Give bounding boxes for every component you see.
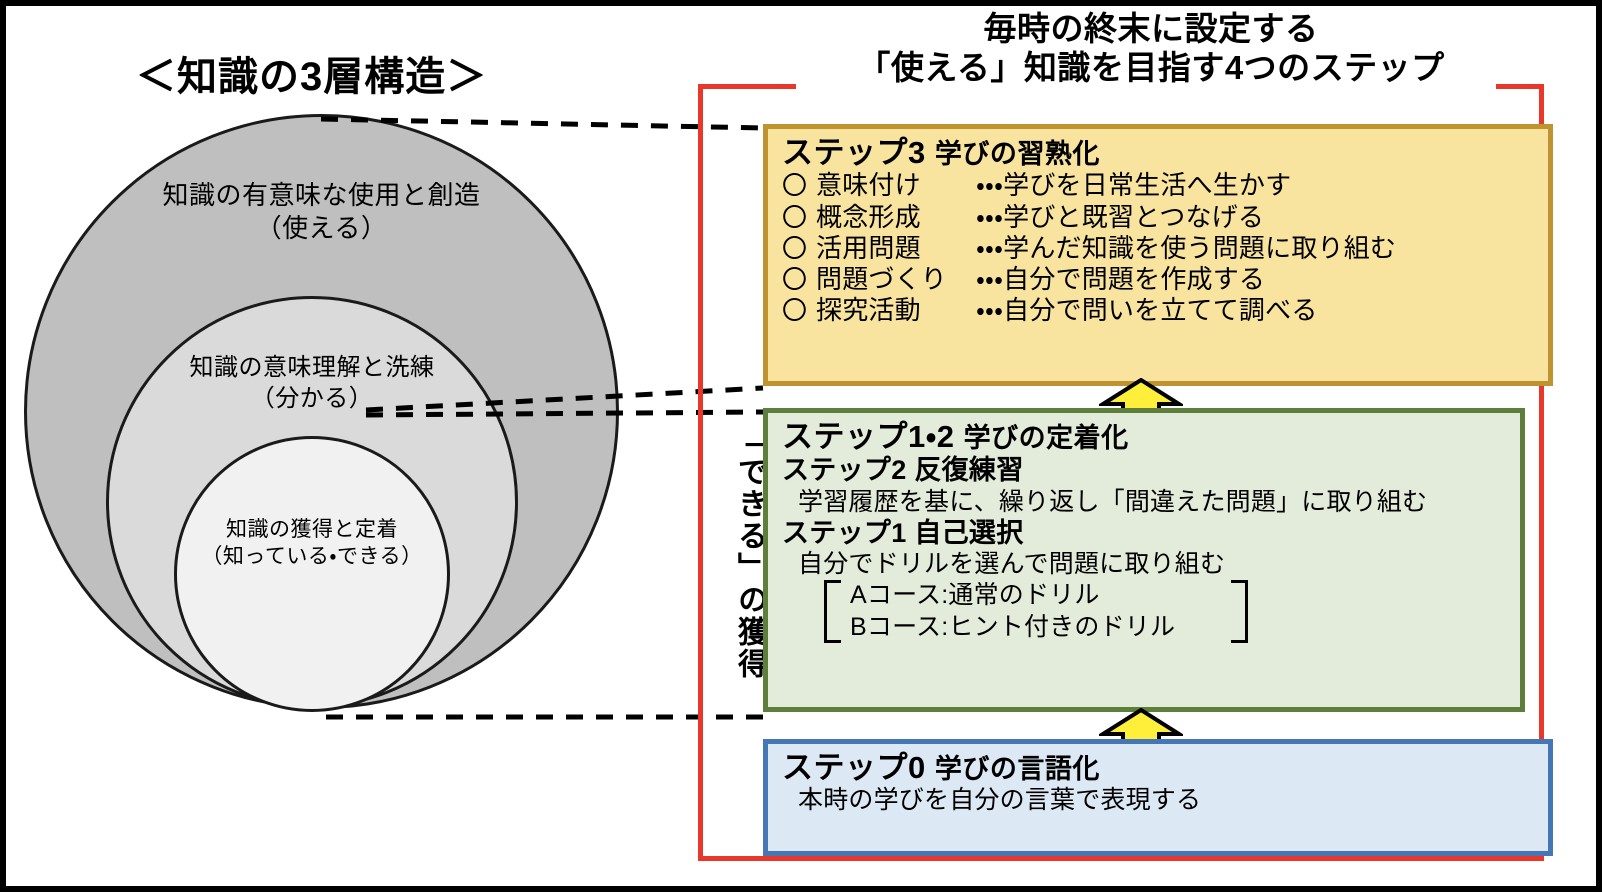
step12-box[interactable]: ステップ1・2 学びの定着化 ステップ2 反復練習 学習履歴を基に、繰り返し「間… — [763, 408, 1525, 712]
step0-title: ステップ0 学びの言語化 — [782, 750, 1536, 785]
step3-bullet-3-desc: ・・・学んだ知識を使う問題に取り組む — [976, 233, 1536, 264]
step3-bullet-2-desc: ・・・学びと既習とつなげる — [976, 202, 1536, 233]
step1-subtitle: ステップ1 自己選択 — [782, 517, 1508, 549]
bullet-circle-icon: 〇 — [782, 265, 816, 295]
layer-circle-inner: 知識の獲得と定着 （知っている・できる） — [174, 436, 450, 712]
step3-bullet-5-term: 探究活動 — [816, 295, 976, 326]
step3-bullet-5-desc: ・・・自分で問いを立てて調べる — [976, 295, 1536, 326]
step3-bullet-4-desc: ・・・自分で問題を作成する — [976, 264, 1536, 295]
step3-bullet-2: 〇 概念形成 ・・・学びと既習とつなげる — [782, 202, 1536, 233]
step3-box[interactable]: ステップ3 学びの習熟化 〇 意味付け ・・・学びを日常生活へ生かす 〇 概念形… — [763, 124, 1553, 386]
step12-title-sub: 学びの定着化 — [964, 423, 1129, 453]
step1-body: 自分でドリルを選んで問題に取り組む — [782, 549, 1508, 579]
page-title: ＜知識の3層構造＞ — [136, 44, 487, 102]
step0-title-sub: 学びの言語化 — [935, 754, 1100, 784]
step3-bullet-2-term: 概念形成 — [816, 202, 976, 233]
step3-bullet-1-desc: ・・・学びを日常生活へ生かす — [976, 170, 1536, 201]
step3-title-sub: 学びの習熟化 — [935, 139, 1100, 169]
step3-title: ステップ3 学びの習熟化 — [782, 135, 1536, 170]
bullet-circle-icon: 〇 — [782, 203, 816, 233]
layer-label-inner: 知識の獲得と定着 （知っている・できる） — [177, 517, 447, 571]
step3-bullet-5: 〇 探究活動 ・・・自分で問いを立てて調べる — [782, 295, 1536, 326]
step12-title: ステップ1・2 学びの定着化 — [782, 419, 1508, 454]
course-option-b[interactable]: Bコース:ヒント付きのドリル — [836, 612, 1236, 644]
step3-bullet-3-term: 活用問題 — [816, 233, 976, 264]
step0-body: 本時の学びを自分の言葉で表現する — [782, 785, 1536, 815]
layer-label-middle: 知識の意味理解と洗練 （分かる） — [109, 353, 515, 414]
step3-bullet-3: 〇 活用問題 ・・・学んだ知識を使う問題に取り組む — [782, 233, 1536, 264]
step3-bullet-4: 〇 問題づくり ・・・自分で問題を作成する — [782, 264, 1536, 295]
layer-label-outer: 知識の有意味な使用と創造 （使える） — [27, 179, 616, 246]
diagram-canvas: ＜知識の3層構造＞ 知識の有意味な使用と創造 （使える） 知識の意味理解と洗練 … — [0, 0, 1602, 892]
bullet-circle-icon: 〇 — [782, 296, 816, 326]
bracket-left-icon — [824, 580, 841, 643]
step2-body: 学習履歴を基に、繰り返し「間違えた問題」に取り組む — [782, 487, 1508, 517]
step12-title-bold: ステップ1・2 — [782, 419, 955, 454]
steps-heading: 毎時の終末に設定する 「使える」知識を目指す4つのステップ — [766, 10, 1536, 88]
step0-title-bold: ステップ0 — [782, 750, 926, 785]
step3-bullet-4-term: 問題づくり — [816, 264, 976, 295]
course-bracket-group: Aコース:通常のドリル Bコース:ヒント付きのドリル — [824, 580, 1248, 643]
bracket-right-icon — [1231, 580, 1248, 643]
bullet-circle-icon: 〇 — [782, 234, 816, 264]
bullet-circle-icon: 〇 — [782, 171, 816, 201]
vertical-caption-dekiru: 「できる」の獲得 — [718, 424, 764, 724]
knowledge-layers-panel: ＜知識の3層構造＞ 知識の有意味な使用と創造 （使える） 知識の意味理解と洗練 … — [6, 6, 686, 886]
step3-title-bold: ステップ3 — [782, 135, 926, 170]
step3-bullet-1: 〇 意味付け ・・・学びを日常生活へ生かす — [782, 170, 1536, 201]
step0-box[interactable]: ステップ0 学びの言語化 本時の学びを自分の言葉で表現する — [763, 739, 1553, 856]
step2-subtitle: ステップ2 反復練習 — [782, 454, 1508, 486]
course-option-a[interactable]: Aコース:通常のドリル — [836, 580, 1236, 612]
step3-bullet-1-term: 意味付け — [816, 170, 976, 201]
